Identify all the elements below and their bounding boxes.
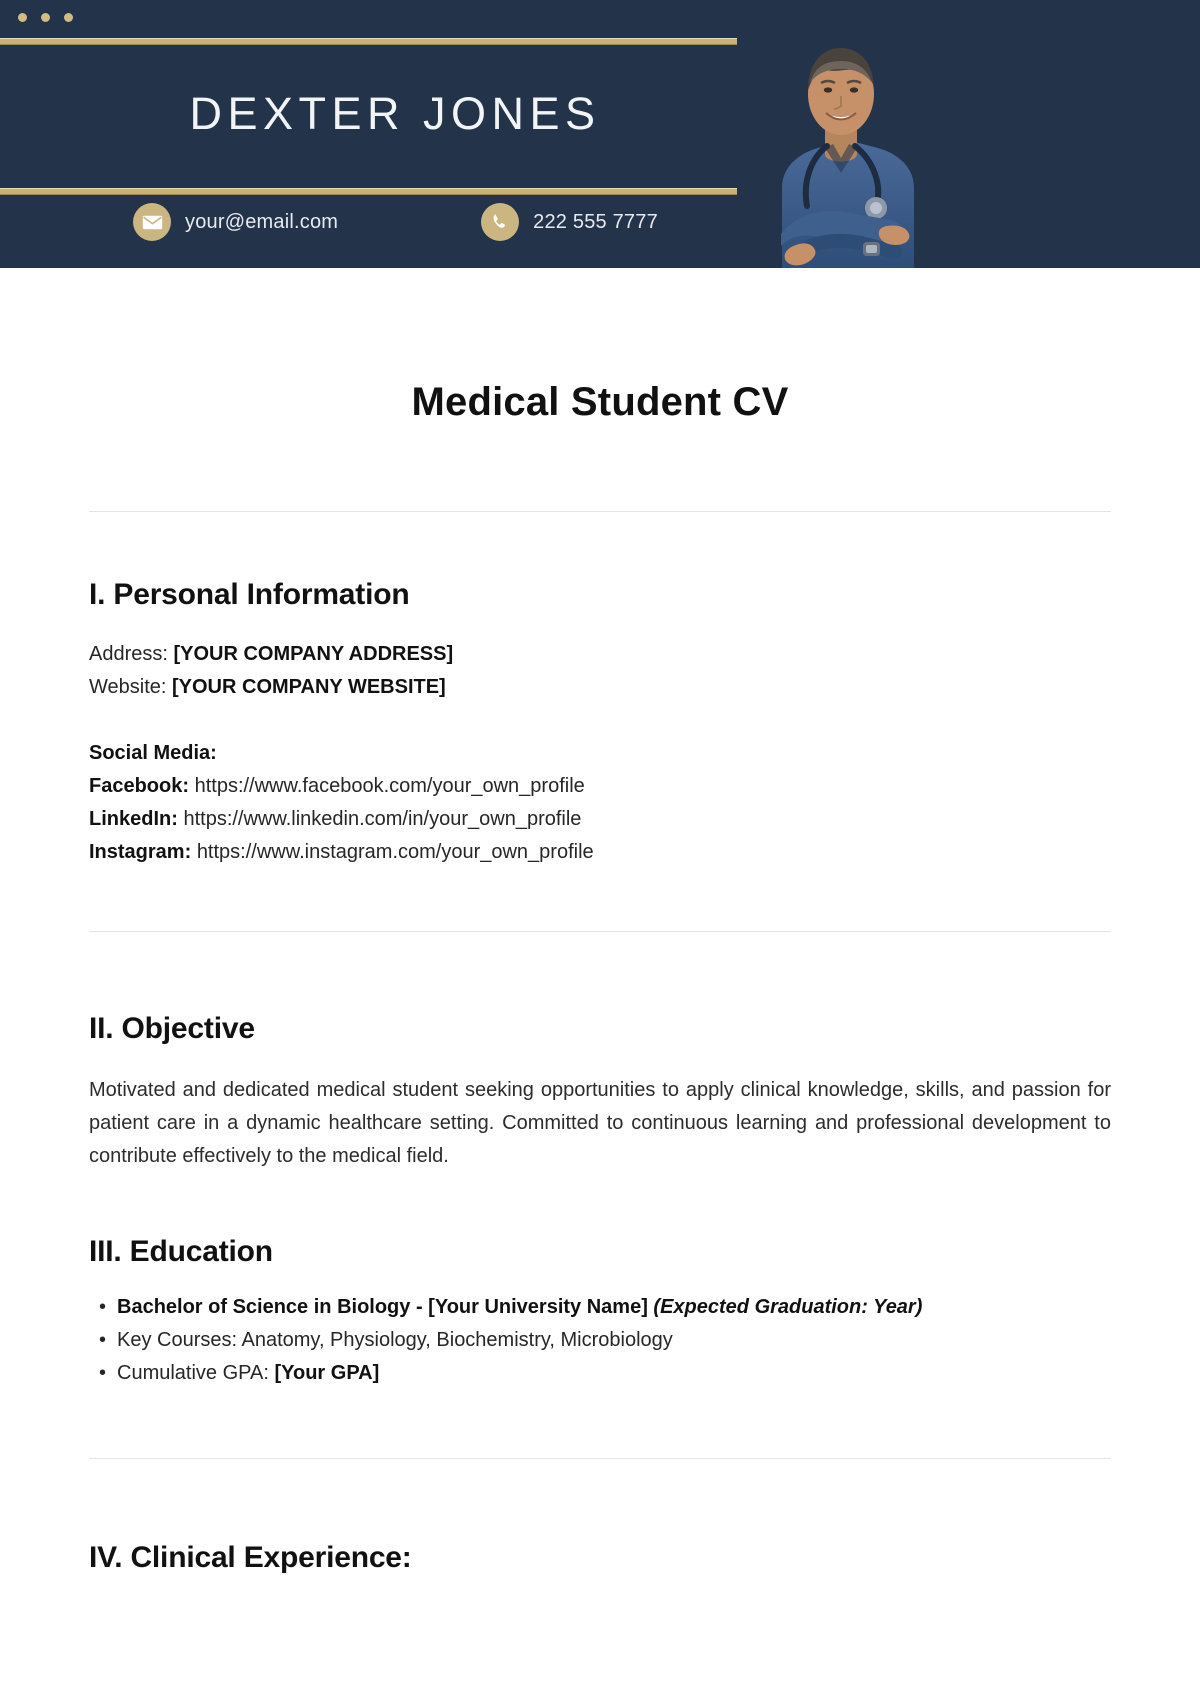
cv-content: Medical Student CV I. Personal Informati… (0, 380, 1200, 1575)
education-item-1-plain: Key Courses: Anatomy, Physiology, Bioche… (117, 1329, 673, 1351)
cv-header-banner: DEXTER JONES your@email.com 222 555 (0, 0, 1200, 268)
candidate-name: DEXTER JONES (0, 88, 790, 140)
objective-paragraph: Motivated and dedicated medical student … (89, 1074, 1111, 1173)
education-item-2-plain: Cumulative GPA: (117, 1362, 274, 1384)
section-heading-objective: II. Objective (89, 1012, 1111, 1046)
website-line: Website: [YOUR COMPANY WEBSITE] (89, 671, 1111, 704)
social-media-heading: Social Media: (89, 742, 217, 764)
gold-rule-bottom (0, 188, 810, 195)
personal-information-block: Address: [YOUR COMPANY ADDRESS] Website:… (89, 638, 1111, 704)
address-value: [YOUR COMPANY ADDRESS] (173, 643, 453, 665)
social-media-block: Social Media: Facebook: https://www.face… (89, 737, 1111, 869)
cv-document-page: DEXTER JONES your@email.com 222 555 (0, 0, 1200, 1700)
phone-icon (481, 203, 519, 241)
instagram-line: Instagram: https://www.instagram.com/you… (89, 836, 1111, 869)
instagram-url[interactable]: https://www.instagram.com/your_own_profi… (197, 841, 594, 863)
divider-after-education (89, 1458, 1111, 1459)
window-dot-1 (18, 13, 27, 22)
envelope-icon (133, 203, 171, 241)
gold-rule-top (0, 38, 810, 45)
instagram-label: Instagram: (89, 841, 197, 863)
divider-after-personal-information (89, 931, 1111, 932)
page-title: Medical Student CV (89, 380, 1111, 425)
education-item-0-bold: Bachelor of Science in Biology - [Your U… (117, 1296, 653, 1318)
list-item: Cumulative GPA: [Your GPA] (95, 1357, 1111, 1390)
facebook-label: Facebook: (89, 775, 195, 797)
facebook-line: Facebook: https://www.facebook.com/your_… (89, 770, 1111, 803)
linkedin-line: LinkedIn: https://www.linkedin.com/in/yo… (89, 803, 1111, 836)
education-item-2-bold: [Your GPA] (274, 1362, 379, 1384)
linkedin-label: LinkedIn: (89, 808, 183, 830)
section-heading-education: III. Education (89, 1235, 1111, 1269)
window-control-dots (18, 13, 73, 22)
list-item: Key Courses: Anatomy, Physiology, Bioche… (95, 1324, 1111, 1357)
section-heading-clinical-experience: IV. Clinical Experience: (89, 1541, 1111, 1575)
divider-after-title (89, 511, 1111, 512)
website-label: Website: (89, 676, 172, 698)
website-value: [YOUR COMPANY WEBSITE] (172, 676, 446, 698)
address-line: Address: [YOUR COMPANY ADDRESS] (89, 638, 1111, 671)
section-heading-personal-information: I. Personal Information (89, 578, 1111, 612)
contact-phone[interactable]: 222 555 7777 (481, 203, 658, 241)
linkedin-url[interactable]: https://www.linkedin.com/in/your_own_pro… (183, 808, 581, 830)
contact-row: your@email.com 222 555 7777 (0, 203, 1200, 241)
address-label: Address: (89, 643, 173, 665)
education-list: Bachelor of Science in Biology - [Your U… (89, 1291, 1111, 1390)
facebook-url[interactable]: https://www.facebook.com/your_own_profil… (195, 775, 585, 797)
education-item-0-italic: (Expected Graduation: Year) (653, 1296, 922, 1318)
list-item: Bachelor of Science in Biology - [Your U… (95, 1291, 1111, 1324)
window-dot-2 (41, 13, 50, 22)
contact-email-text: your@email.com (185, 211, 338, 234)
contact-phone-text: 222 555 7777 (533, 211, 658, 234)
contact-email[interactable]: your@email.com (133, 203, 338, 241)
window-dot-3 (64, 13, 73, 22)
